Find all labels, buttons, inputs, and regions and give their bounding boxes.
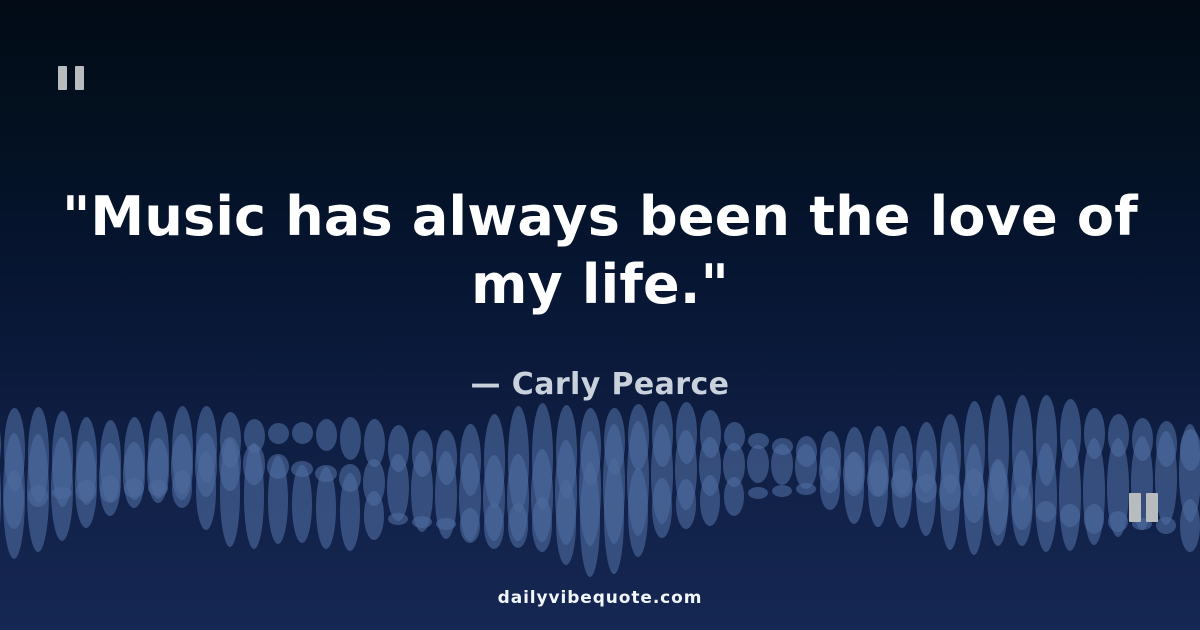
waveform-blob <box>580 408 601 486</box>
waveform-blob <box>460 508 480 543</box>
waveform-blob <box>315 465 337 482</box>
waveform-blob <box>244 419 265 453</box>
waveform-blob <box>27 434 49 553</box>
waveform-blob <box>820 466 840 509</box>
waveform-blob <box>0 437 1 559</box>
waveform-blob <box>100 475 120 503</box>
waveform-blob <box>508 503 528 548</box>
waveform-blob <box>363 459 385 506</box>
waveform-blob <box>483 455 505 541</box>
waveform-blob <box>147 438 169 503</box>
waveform-blob <box>436 430 457 485</box>
waveform-blob <box>52 487 72 499</box>
waveform-blob <box>364 491 384 540</box>
waveform-blob <box>75 441 97 527</box>
waveform-blob <box>124 417 145 500</box>
waveform-blob <box>1107 438 1129 537</box>
waveform-blob <box>508 406 529 513</box>
waveform-blob <box>988 461 1008 545</box>
waveform-blob <box>100 420 121 502</box>
waveform-blob <box>148 411 169 498</box>
waveform-blob <box>603 424 625 544</box>
waveform-blob <box>892 453 912 528</box>
waveform-blob <box>291 461 313 477</box>
waveform-blob <box>1132 418 1153 462</box>
waveform-blob <box>243 444 265 484</box>
waveform-blob <box>844 427 865 492</box>
waveform-blob <box>172 470 192 508</box>
waveform-blob <box>339 464 361 492</box>
waveform-blob <box>916 450 936 536</box>
waveform-blob <box>891 469 913 499</box>
quote-attribution: — Carly Pearce <box>60 366 1140 404</box>
waveform-blob <box>819 447 841 494</box>
waveform-blob <box>963 468 985 522</box>
waveform-blob <box>531 449 553 543</box>
waveform-blob <box>652 478 672 538</box>
waveform-blob <box>724 477 744 516</box>
waveform-blob <box>459 453 481 541</box>
waveform-blob <box>868 426 889 496</box>
waveform-blob <box>652 401 673 467</box>
waveform-blob <box>340 417 361 460</box>
waveform-blob <box>748 433 769 449</box>
waveform-blob <box>388 513 408 525</box>
quote-bars-icon-open <box>58 66 84 90</box>
waveform-blob <box>76 417 97 505</box>
waveform-blob <box>868 450 888 527</box>
waveform-blob <box>316 419 337 451</box>
waveform-blob <box>484 414 505 507</box>
waveform-blob <box>1060 399 1081 468</box>
waveform-blob <box>1060 504 1080 527</box>
waveform-blob <box>700 475 720 526</box>
waveform-blob <box>724 422 745 451</box>
quote-card: "Music has always been the love of my li… <box>0 0 1200 630</box>
waveform-blob <box>1083 438 1105 545</box>
waveform-blob <box>4 470 24 529</box>
waveform-blob <box>195 433 217 496</box>
waveform-blob <box>939 474 961 511</box>
waveform-blob <box>915 474 937 502</box>
waveform-blob <box>1084 408 1105 459</box>
waveform-blob <box>772 485 792 497</box>
waveform-blob <box>388 425 409 472</box>
waveform-blob <box>627 421 649 536</box>
waveform-blob <box>1155 431 1177 525</box>
waveform-blob <box>268 423 289 444</box>
quote-bar <box>75 66 84 90</box>
waveform-blob <box>892 426 913 495</box>
waveform-blob <box>268 456 288 543</box>
waveform-blob <box>3 433 25 559</box>
waveform-blob <box>579 431 601 546</box>
waveform-blob <box>99 443 121 516</box>
waveform-blob <box>772 438 793 455</box>
waveform-blob <box>580 462 600 577</box>
waveform-blob <box>1012 395 1033 500</box>
waveform-blob <box>1180 429 1200 471</box>
waveform-blob <box>820 431 841 481</box>
waveform-blob <box>940 442 960 549</box>
waveform-blob <box>1108 414 1129 457</box>
audio-waveform-decoration <box>0 395 1200 555</box>
waveform-blob <box>796 483 816 495</box>
waveform-blob <box>123 442 145 508</box>
waveform-blob <box>267 454 289 480</box>
waveform-blob <box>196 406 217 483</box>
waveform-blob <box>964 401 985 496</box>
waveform-blob <box>556 480 576 565</box>
waveform-blob <box>628 468 648 557</box>
waveform-blob <box>1036 501 1056 522</box>
waveform-blob <box>219 437 241 491</box>
waveform-blob <box>532 403 553 509</box>
waveform-blob <box>292 422 313 443</box>
waveform-blob <box>172 406 193 494</box>
waveform-blob <box>795 444 817 489</box>
waveform-blob <box>700 410 721 457</box>
waveform-blob <box>555 440 577 544</box>
waveform-blob <box>436 518 456 530</box>
waveform-blob <box>988 395 1009 501</box>
waveform-blob <box>52 411 73 507</box>
waveform-blob <box>171 434 193 500</box>
waveform-blob <box>435 451 457 539</box>
waveform-blob <box>651 424 673 524</box>
waveform-blob <box>699 437 721 496</box>
waveform-blob <box>387 454 409 520</box>
waveform-blob <box>723 443 745 487</box>
waveform-blob <box>1108 511 1128 532</box>
waveform-blob <box>604 458 624 575</box>
site-watermark: dailyvibequote.com <box>0 588 1200 608</box>
waveform-blob <box>76 480 96 502</box>
waveform-blob <box>1180 499 1200 552</box>
waveform-blob <box>747 445 769 484</box>
waveform-blob <box>987 459 1009 535</box>
quote-bars-icon-close <box>1129 493 1158 522</box>
waveform-blob <box>916 422 937 493</box>
waveform-blob <box>748 487 768 499</box>
waveform-blob <box>532 497 552 552</box>
quote-text: "Music has always been the love of my li… <box>60 183 1140 319</box>
waveform-blob <box>1011 450 1033 546</box>
quote-bar <box>1146 493 1158 522</box>
waveform-blob <box>292 465 312 543</box>
waveform-blob <box>1084 504 1104 533</box>
waveform-blob <box>1156 421 1177 467</box>
waveform-blob <box>1179 424 1200 522</box>
waveform-blob <box>844 452 864 524</box>
waveform-blob <box>867 461 889 497</box>
waveform-blob <box>316 467 336 549</box>
waveform-blob <box>843 452 865 496</box>
waveform-blob <box>628 404 649 470</box>
waveform-blob <box>28 407 49 504</box>
waveform-blob <box>51 437 73 541</box>
waveform-blob <box>964 444 984 556</box>
waveform-blob <box>411 451 433 532</box>
waveform-blob <box>124 478 144 498</box>
waveform-blob <box>771 444 793 485</box>
waveform-blob <box>484 503 504 549</box>
waveform-blob <box>1036 395 1057 486</box>
waveform-blob <box>196 451 216 530</box>
waveform-blob <box>220 412 241 469</box>
waveform-blob <box>556 405 577 499</box>
waveform-blob <box>0 414 1 476</box>
waveform-blob <box>412 516 432 528</box>
waveform-blob <box>940 414 961 494</box>
quote-bar <box>1129 493 1141 522</box>
waveform-blob <box>675 430 697 509</box>
waveform-blob <box>220 439 240 547</box>
waveform-blob <box>460 424 481 496</box>
waveform-blob <box>28 485 48 507</box>
waveform-blob <box>1035 443 1057 552</box>
waveform-blob <box>507 454 529 541</box>
waveform-blob <box>340 473 360 550</box>
waveform-blob <box>244 443 264 549</box>
quote-bar <box>58 66 67 90</box>
waveform-blob <box>796 436 817 467</box>
waveform-blob <box>676 402 697 463</box>
waveform-blob <box>676 479 696 529</box>
waveform-blob <box>4 408 25 492</box>
waveform-blob <box>412 430 433 477</box>
waveform-blob <box>1156 517 1176 534</box>
waveform-blob <box>1059 439 1081 551</box>
waveform-blob <box>1012 485 1032 529</box>
waveform-blob <box>604 408 625 476</box>
waveform-blob <box>148 480 168 496</box>
waveform-blob <box>364 419 385 467</box>
